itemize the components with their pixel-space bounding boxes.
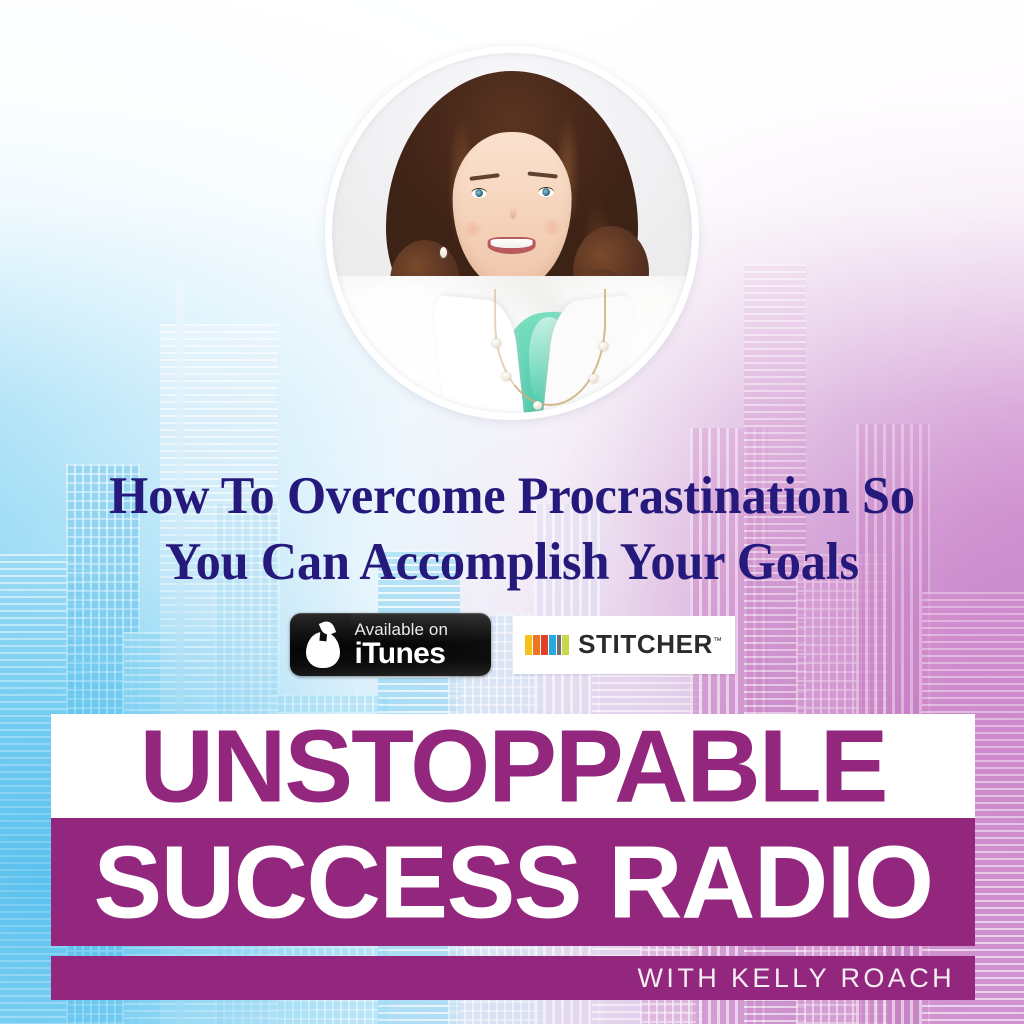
stitcher-word-text: STITCHER bbox=[578, 629, 713, 659]
logo-band-lower: SUCCESS RADIO bbox=[51, 818, 975, 946]
show-title-line1: UNSTOPPABLE bbox=[140, 715, 887, 818]
stitcher-badge[interactable]: STITCHER™ bbox=[513, 616, 735, 674]
podcast-cover-art: How To Overcome Procrastination So You C… bbox=[0, 0, 1024, 1024]
episode-title: How To Overcome Procrastination So You C… bbox=[26, 463, 999, 595]
logo-band-upper: UNSTOPPABLE bbox=[51, 714, 975, 818]
stitcher-wordmark: STITCHER™ bbox=[578, 629, 722, 660]
show-title-line2: SUCCESS RADIO bbox=[94, 831, 933, 934]
show-logo-block: UNSTOPPABLE SUCCESS RADIO WITH KELLY ROA… bbox=[51, 714, 975, 1000]
stitcher-trademark: ™ bbox=[713, 635, 722, 645]
itunes-badge[interactable]: Available on iTunes bbox=[290, 613, 491, 676]
apple-logo-icon bbox=[298, 616, 350, 674]
logo-band-gap bbox=[51, 946, 975, 956]
listen-badges: Available on iTunes STITCHER™ bbox=[0, 613, 1024, 676]
host-name-label: WITH KELLY ROACH bbox=[638, 963, 955, 994]
badge-gloss bbox=[347, 613, 491, 676]
host-bar: WITH KELLY ROACH bbox=[51, 956, 975, 1000]
portrait-ring bbox=[325, 46, 699, 420]
stitcher-bars-icon bbox=[525, 635, 569, 655]
host-portrait bbox=[325, 46, 699, 420]
